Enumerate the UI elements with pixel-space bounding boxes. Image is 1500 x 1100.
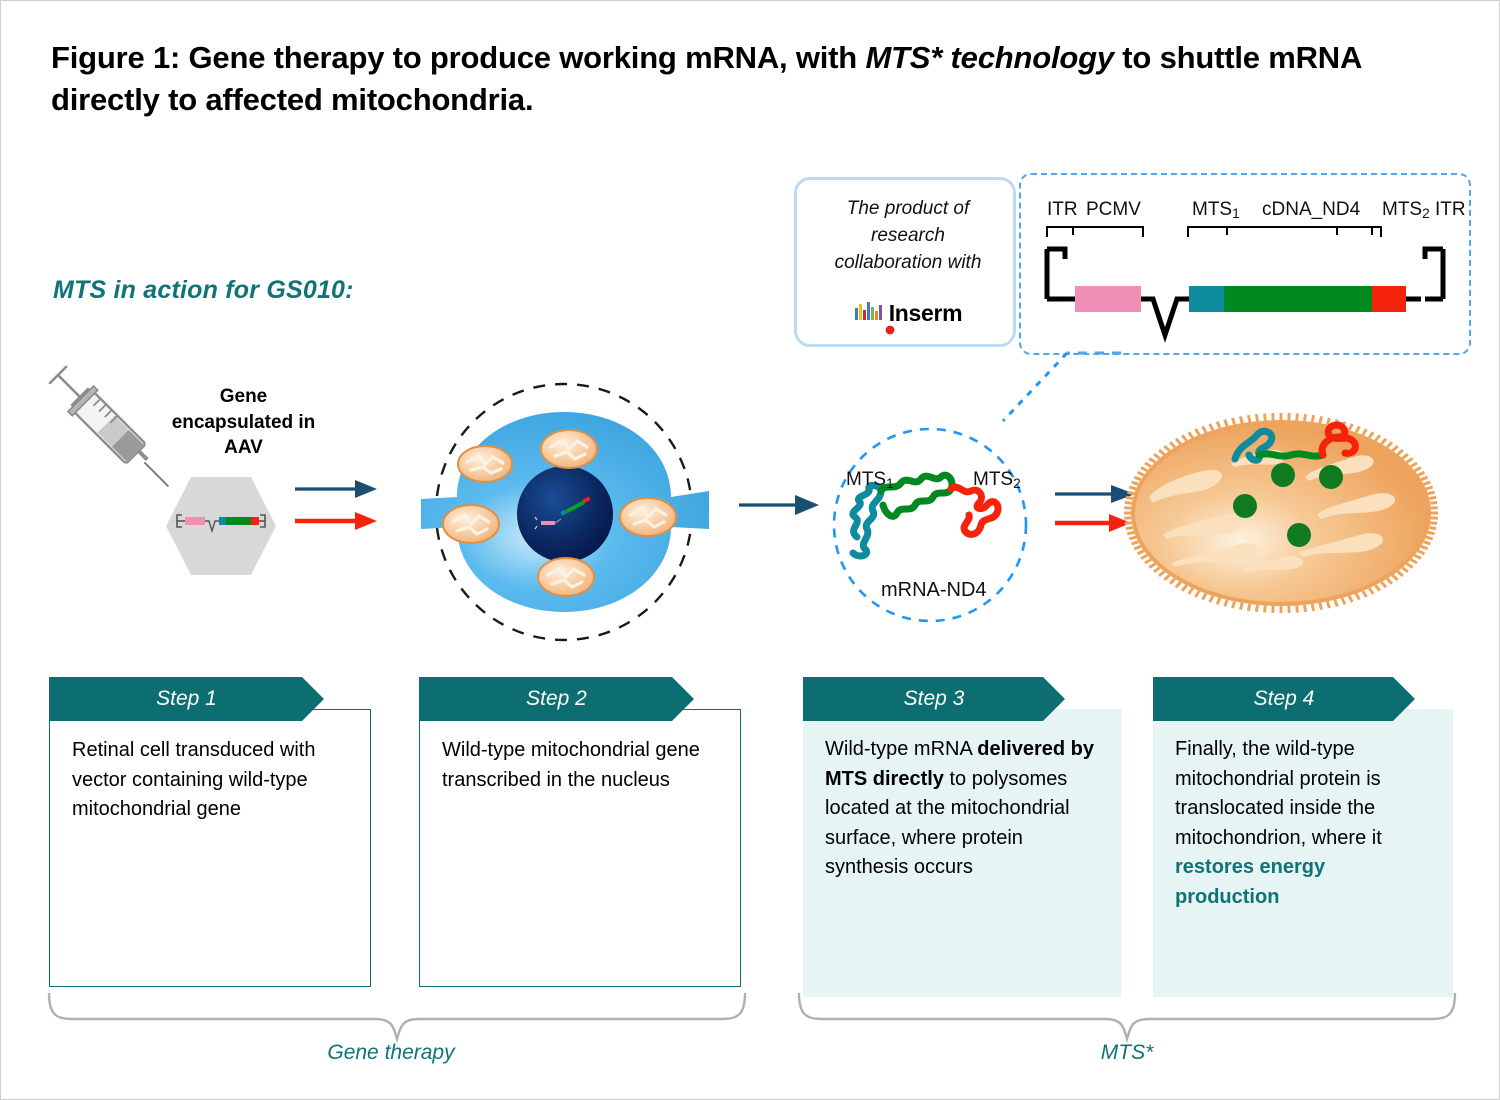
step-2-banner: Step 2 <box>419 677 694 721</box>
construct-label-mts2: MTS2 <box>1382 199 1430 221</box>
mitochondrion-matrix <box>1135 424 1427 602</box>
construct-segment-mts1 <box>1189 286 1224 312</box>
inserm-logo: Inserm <box>797 300 1019 327</box>
step-2-text: Wild-type mitochondrial gene transcribed… <box>442 739 700 791</box>
brace-gene-therapy <box>45 987 749 1047</box>
figure-frame: Figure 1: Gene therapy to produce workin… <box>0 0 1500 1100</box>
title-part-1: Figure 1: Gene therapy to produce workin… <box>51 40 865 75</box>
construct-label-pcmv: PCMV <box>1086 199 1141 221</box>
mrna-label-mts1: MTS1 <box>846 469 894 491</box>
step-1-banner: Step 1 <box>49 677 324 721</box>
brace-label-mts: MTS* <box>987 1041 1267 1065</box>
retinal-cell <box>399 379 729 649</box>
step-card-3[interactable]: Wild-type mRNA delivered by MTS directly… <box>803 677 1121 987</box>
brace-label-gene-therapy: Gene therapy <box>251 1041 531 1065</box>
mrna-label-mts2: MTS2 <box>973 469 1021 491</box>
step-4-banner: Step 4 <box>1153 677 1415 721</box>
figure-title: Figure 1: Gene therapy to produce workin… <box>51 37 1451 120</box>
step-4-text: Finally, the wild-type mitochondrial pro… <box>1175 738 1382 908</box>
mrna-label-bottom: mRNA-ND4 <box>881 579 987 602</box>
step-card-2[interactable]: Wild-type mitochondrial gene transcribed… <box>419 677 741 987</box>
inserm-callout-box: The product of research collaboration wi… <box>794 177 1016 347</box>
hexagon-capsid-icon <box>161 471 281 581</box>
construct-label-cdna-nd4: cDNA_ND4 <box>1262 199 1360 221</box>
arrow-red-1 <box>295 512 377 530</box>
step-4-body: Finally, the wild-type mitochondrial pro… <box>1153 709 1453 997</box>
step-card-1[interactable]: Retinal cell transduced with vector cont… <box>49 677 371 987</box>
inserm-callout-text: The product of research collaboration wi… <box>797 196 1019 277</box>
step-card-4[interactable]: Finally, the wild-type mitochondrial pro… <box>1153 677 1453 987</box>
construct-itr-left <box>1047 249 1065 299</box>
construct-label-mts1: MTS1 <box>1192 199 1240 221</box>
section-heading: MTS in action for GS010: <box>53 276 354 305</box>
construct-segment-cdna-nd4 <box>1224 286 1372 312</box>
brace-mts <box>795 987 1459 1047</box>
step-1-text: Retinal cell transduced with vector cont… <box>72 739 315 820</box>
inserm-line-1: The product of <box>847 198 970 219</box>
construct-segment-mts2 <box>1372 286 1406 312</box>
arrow-blue-2 <box>737 489 823 521</box>
construct-label-itr-right: ITR <box>1435 199 1466 221</box>
inserm-logo-bars-icon <box>854 301 884 327</box>
inserm-logo-dot-icon <box>797 325 1019 335</box>
inserm-line-2: research <box>871 225 945 246</box>
arrow-blue-1 <box>295 480 377 498</box>
inserm-line-3: collaboration with <box>835 252 982 273</box>
title-italic-part: MTS* technology <box>865 40 1113 75</box>
mitochondrion <box>1123 407 1443 617</box>
inserm-logo-word: Inserm <box>889 300 963 326</box>
construct-segment-pcmv <box>1075 286 1141 312</box>
aav-label: Gene encapsulated in AAV <box>161 384 326 461</box>
step-3-body: Wild-type mRNA delivered by MTS directly… <box>803 709 1121 997</box>
step-3-banner: Step 3 <box>803 677 1065 721</box>
step-1-body: Retinal cell transduced with vector cont… <box>49 709 371 987</box>
step-2-body: Wild-type mitochondrial gene transcribed… <box>419 709 741 987</box>
construct-rulers <box>1047 227 1381 237</box>
construct-itr-right <box>1425 249 1443 299</box>
construct-label-itr-left: ITR <box>1047 199 1078 221</box>
construct-intron-notch <box>1141 299 1189 335</box>
gene-construct-graphic <box>1023 219 1471 349</box>
arrow-red-3 <box>1055 514 1131 532</box>
arrow-pair-1 <box>293 471 383 541</box>
construct-to-mrna-connector <box>1001 341 1131 451</box>
step-3-text: Wild-type mRNA delivered by MTS directly… <box>825 738 1094 878</box>
syringe-icon <box>47 353 177 503</box>
